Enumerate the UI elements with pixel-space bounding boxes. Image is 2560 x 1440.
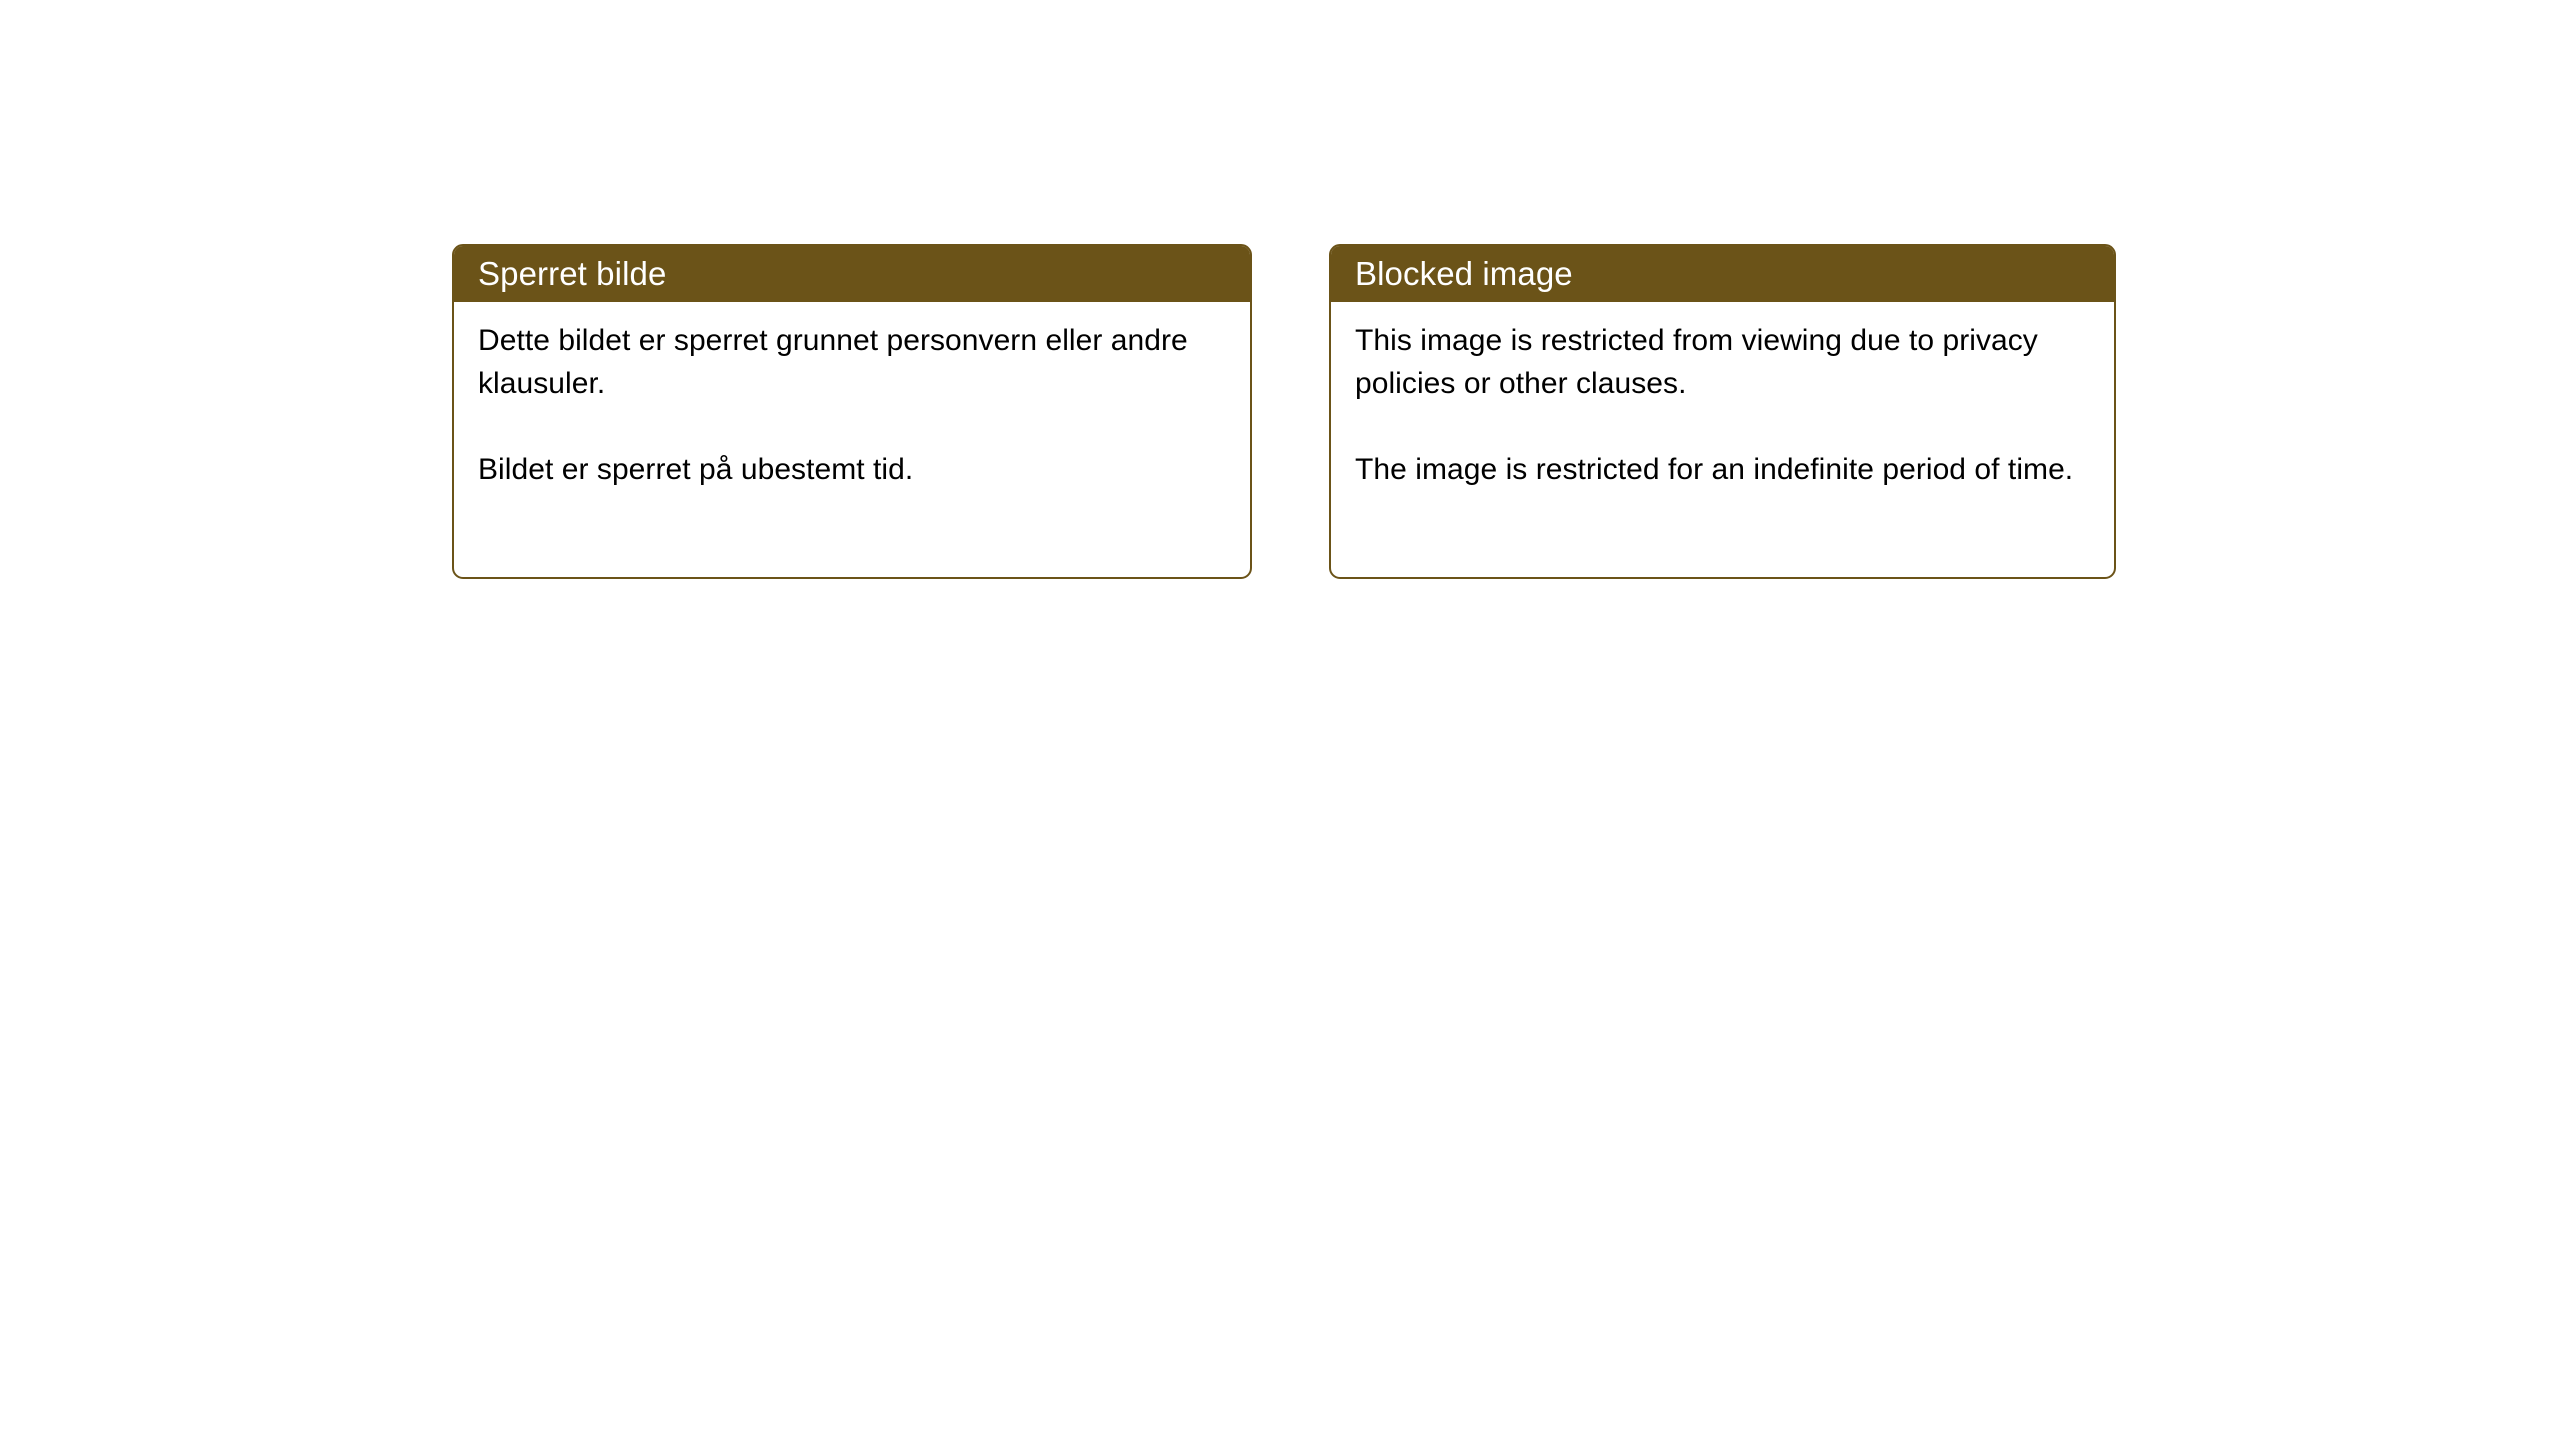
paragraph-spacer-english: [1355, 405, 2088, 448]
card-paragraph-primary-english: This image is restricted from viewing du…: [1355, 319, 2088, 405]
card-paragraph-primary-norwegian: Dette bildet er sperret grunnet personve…: [478, 319, 1224, 405]
blocked-image-card-english: Blocked image This image is restricted f…: [1329, 244, 2116, 579]
card-body-norwegian: Dette bildet er sperret grunnet personve…: [454, 302, 1250, 577]
card-paragraph-secondary-norwegian: Bildet er sperret på ubestemt tid.: [478, 448, 1224, 491]
blocked-image-notice-group: Sperret bilde Dette bildet er sperret gr…: [452, 244, 2116, 579]
card-title-english: Blocked image: [1355, 256, 1573, 292]
paragraph-spacer-norwegian: [478, 405, 1224, 448]
card-body-english: This image is restricted from viewing du…: [1331, 302, 2114, 577]
card-title-norwegian: Sperret bilde: [478, 256, 666, 292]
card-header-norwegian: Sperret bilde: [454, 246, 1250, 302]
card-header-english: Blocked image: [1331, 246, 2114, 302]
card-paragraph-secondary-english: The image is restricted for an indefinit…: [1355, 448, 2088, 491]
blocked-image-card-norwegian: Sperret bilde Dette bildet er sperret gr…: [452, 244, 1252, 579]
